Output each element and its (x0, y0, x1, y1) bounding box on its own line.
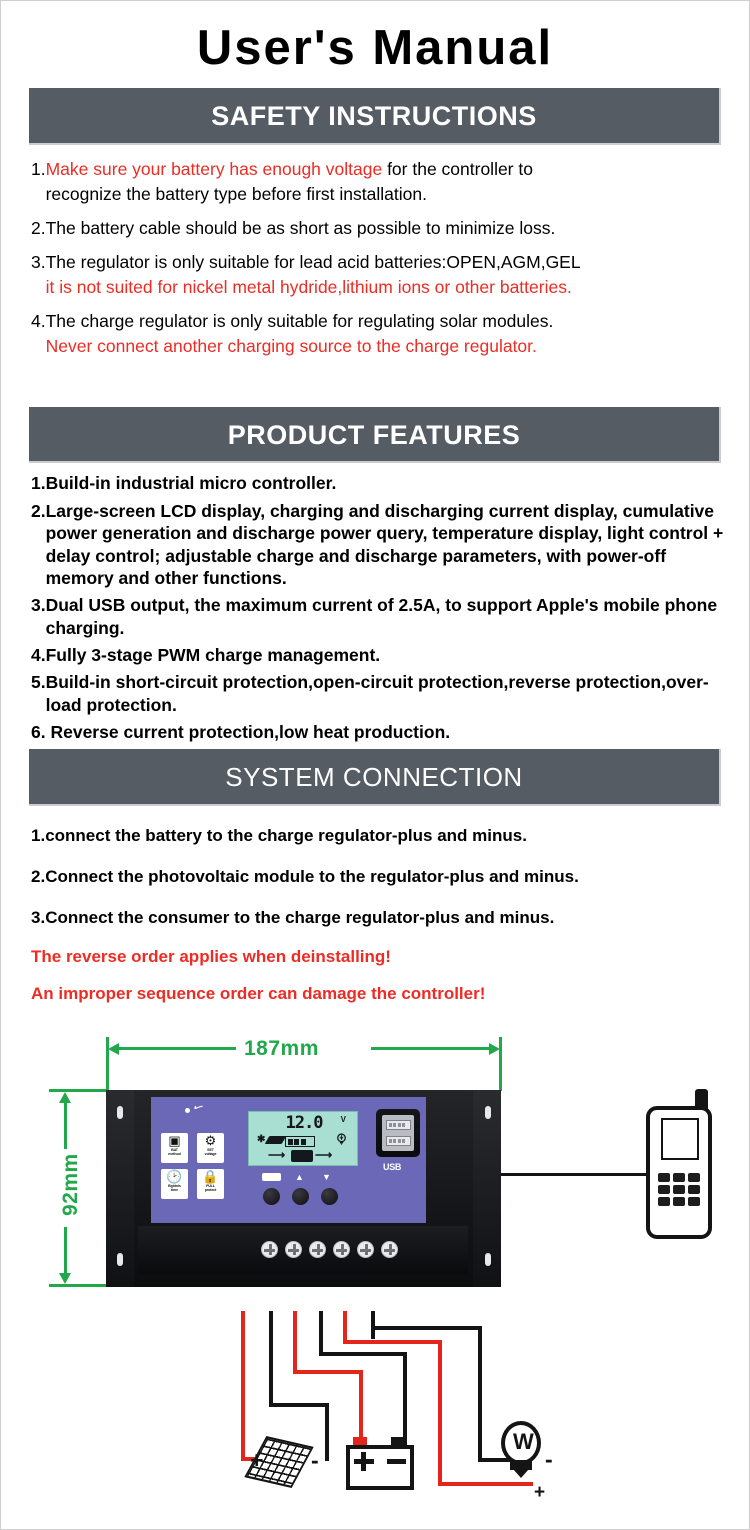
usb-slot-icon (386, 1136, 411, 1146)
load-minus-sign: - (545, 1448, 553, 1471)
mount-slot-icon (485, 1253, 491, 1266)
button-down[interactable] (321, 1188, 338, 1205)
list-item-number: 1. (31, 824, 45, 848)
phone-key (688, 1197, 700, 1206)
wire-load-positive-h (343, 1340, 442, 1344)
list-item-number: 3. (31, 250, 46, 300)
battery-icon (291, 1150, 313, 1162)
bulb-filament-icon: W (513, 1431, 534, 1453)
dim-width-arrow-left-icon (108, 1043, 119, 1055)
pad-brightness-time-label: Bghtnlstime (167, 1184, 182, 1192)
list-item-line2-red: Never connect another charging source to… (46, 336, 537, 356)
load-plus-sign: + (534, 1483, 545, 1502)
list-item-number: 4. (31, 309, 46, 359)
phone-key (658, 1185, 670, 1194)
list-item: 4. The charge regulator is only suitable… (31, 309, 727, 359)
safety-instructions-list: 1. Make sure your battery has enough vol… (1, 157, 749, 358)
list-item-text: Reverse current protection,low heat prod… (50, 721, 727, 743)
load-bulb-icon (335, 1133, 348, 1146)
list-item-number: 5. (31, 671, 46, 716)
terminal-block (138, 1226, 468, 1274)
arrow-charge-icon: ⟶ (268, 1149, 285, 1161)
button-up-cap-icon: ▲ (295, 1173, 304, 1182)
spacer (1, 367, 749, 407)
list-item: 1. Make sure your battery has enough vol… (31, 157, 727, 207)
solar-minus-sign: - (311, 1449, 319, 1472)
lock-icon: 🔒 (202, 1170, 218, 1184)
usb-port[interactable] (376, 1109, 420, 1157)
warning-improper-sequence: An improper sequence order can damage th… (1, 984, 749, 1004)
wire-load-positive-down (438, 1340, 442, 1485)
usb-slot-icon (386, 1120, 411, 1130)
mount-slot-icon (485, 1106, 491, 1119)
button-select[interactable] (263, 1188, 280, 1205)
phone-key (673, 1173, 685, 1182)
wire-load-negative (371, 1311, 375, 1339)
list-item: 2. Connect the photovoltaic module to th… (31, 865, 727, 889)
section-header-safety: SAFETY INSTRUCTIONS (29, 88, 721, 145)
list-item-number: 1. (31, 157, 46, 207)
lcd-voltage-unit: V (341, 1115, 346, 1124)
pad-set-voltage-label: SETvoltage (204, 1148, 218, 1156)
wire-battery-negative-down (403, 1352, 407, 1442)
dim-height-arrow-up-icon (59, 1092, 71, 1103)
terminal-screw[interactable] (285, 1241, 302, 1258)
system-connection-list: 1. connect the battery to the charge reg… (1, 824, 749, 930)
wire-solar-negative-h (269, 1403, 329, 1407)
battery-plus-mark-v (361, 1452, 366, 1471)
list-item-number: 2. (31, 865, 45, 889)
list-item-number: 2. (31, 216, 46, 241)
list-item: 1. Build-in industrial micro controller. (31, 472, 727, 494)
list-item-line2-red: it is not suited for nickel metal hydrid… (46, 277, 572, 297)
usb-label: USB (383, 1162, 401, 1172)
list-item-number: 2. (31, 500, 46, 590)
list-item: 4. Fully 3-stage PWM charge management. (31, 644, 727, 666)
list-item-line1: The charge regulator is only suitable fo… (46, 311, 554, 331)
list-item-line1: The regulator is only suitable for lead … (46, 252, 581, 272)
wire-solar-negative (269, 1311, 273, 1406)
list-item: 2. Large-screen LCD display, charging an… (31, 500, 727, 590)
pad-bat-method-label: BATmethod (167, 1148, 181, 1156)
gear-icon: ⚙ (205, 1134, 217, 1148)
wire-battery-positive-down (359, 1370, 363, 1442)
list-item-text: Large-screen LCD display, charging and d… (46, 500, 727, 590)
usb-cable (501, 1173, 649, 1176)
warning-reverse-order: The reverse order applies when deinstall… (1, 947, 749, 967)
frame-icon: ▣ (168, 1134, 180, 1148)
pad-bat-method[interactable]: ▣ BATmethod (161, 1133, 188, 1163)
list-item-tail: for the controller to (382, 159, 533, 179)
dim-height-line-bottom (64, 1227, 67, 1275)
mount-slot-icon (117, 1106, 123, 1119)
phone-key (658, 1173, 670, 1182)
battery-graphic (346, 1445, 414, 1490)
wire-battery-positive (293, 1311, 297, 1373)
terminal-screw[interactable] (261, 1241, 278, 1258)
wire-battery-negative-h (319, 1352, 407, 1356)
battery-bar (294, 1139, 299, 1145)
list-item-text: Build-in industrial micro controller. (46, 472, 727, 494)
section-header-system: SYSTEM CONNECTION (29, 749, 721, 806)
phone-key (673, 1185, 685, 1194)
battery-minus-mark (387, 1459, 406, 1464)
dim-height-tick-top (49, 1089, 109, 1092)
phone-keypad (658, 1173, 702, 1206)
list-item-text: Connect the photovoltaic module to the r… (45, 865, 727, 889)
highlight-red: Make sure your battery has enough voltag… (46, 159, 383, 179)
list-item-number: 4. (31, 644, 46, 666)
dim-height-line-top (64, 1101, 67, 1149)
list-item: 1. connect the battery to the charge reg… (31, 824, 727, 848)
dim-width-line-left (119, 1047, 236, 1050)
terminal-screw[interactable] (333, 1241, 350, 1258)
battery-bar (288, 1139, 293, 1145)
button-up[interactable] (292, 1188, 309, 1205)
wire-battery-positive-h (293, 1370, 363, 1374)
wire-load-negative-h (371, 1326, 482, 1330)
manual-page: User's Manual SAFETY INSTRUCTIONS 1. Mak… (0, 0, 750, 1530)
page-title: User's Manual (1, 1, 749, 74)
phone-key (673, 1197, 685, 1206)
product-features-list: 1. Build-in industrial micro controller.… (1, 472, 749, 743)
button-select-cap-icon (262, 1173, 281, 1181)
pad-full-protect[interactable]: 🔒 FULLprotect (197, 1169, 224, 1199)
dim-width-line-right (371, 1047, 489, 1050)
wire-battery-negative (319, 1311, 323, 1355)
list-item: 5. Build-in short-circuit protection,ope… (31, 671, 727, 716)
wire-load-positive (343, 1311, 347, 1343)
clock-icon: 🕑 (166, 1170, 182, 1184)
phone-key (688, 1173, 700, 1182)
button-down-cap-icon: ▼ (322, 1173, 331, 1182)
wire-load-positive-leg (438, 1482, 533, 1486)
wire-load-negative-down (478, 1326, 482, 1461)
list-item-number: 1. (31, 472, 46, 494)
mount-slot-icon (117, 1253, 123, 1266)
list-item-text: The regulator is only suitable for lead … (46, 250, 727, 300)
list-item: 3. The regulator is only suitable for le… (31, 250, 727, 300)
list-item-text: Fully 3-stage PWM charge management. (46, 644, 727, 666)
list-item-text: The charge regulator is only suitable fo… (46, 309, 727, 359)
wire-solar-positive (241, 1311, 245, 1461)
solar-panel-icon (265, 1136, 287, 1144)
dim-height-tick-bottom (49, 1284, 109, 1287)
battery-bar (301, 1139, 306, 1145)
list-item-text: connect the battery to the charge regula… (45, 824, 727, 848)
list-item-text: Make sure your battery has enough voltag… (46, 157, 727, 207)
section-header-features: PRODUCT FEATURES (29, 407, 721, 463)
wire-solar-negative-down (325, 1403, 329, 1461)
terminal-screw[interactable] (357, 1241, 374, 1258)
list-item: 2. The battery cable should be as short … (31, 216, 727, 241)
list-item: 3. Connect the consumer to the charge re… (31, 906, 727, 930)
list-item: 3. Dual USB output, the maximum current … (31, 594, 727, 639)
solar-plus-sign: + (250, 1449, 263, 1472)
battery-level-indicator (285, 1136, 315, 1147)
list-item-number: 3. (31, 906, 45, 930)
list-item-text: Build-in short-circuit protection,open-c… (46, 671, 727, 716)
list-item-number: 6. (31, 721, 50, 743)
list-item-number: 3. (31, 594, 46, 639)
pad-full-protect-label: FULLprotect (204, 1184, 217, 1192)
list-item-text: Dual USB output, the maximum current of … (46, 594, 727, 639)
pad-set-voltage[interactable]: ⚙ SETvoltage (197, 1133, 224, 1163)
list-item-text: Connect the consumer to the charge regul… (45, 906, 727, 930)
dim-width-label: 187mm (244, 1037, 319, 1061)
dim-height-label: 92mm (59, 1153, 83, 1216)
terminal-screw[interactable] (309, 1241, 326, 1258)
phone-screen (661, 1118, 699, 1160)
list-item-text: The battery cable should be as short as … (46, 216, 727, 241)
dim-width-arrow-right-icon (489, 1043, 500, 1055)
bulb-tip (513, 1469, 529, 1478)
arrow-discharge-icon: ⟶ (315, 1149, 332, 1161)
list-item: 6. Reverse current protection,low heat p… (31, 721, 727, 743)
dim-height-arrow-down-icon (59, 1273, 71, 1284)
terminal-screw[interactable] (381, 1241, 398, 1258)
battery-bar-empty (307, 1139, 312, 1145)
usb-inner-shell (382, 1115, 414, 1151)
phone-key (658, 1197, 670, 1206)
list-item-line2: recognize the battery type before first … (46, 184, 427, 204)
phone-key (688, 1185, 700, 1194)
lcd-screen: 12.0 V ✱ ⟶ ⟶ (248, 1111, 358, 1166)
pad-brightness-time[interactable]: 🕑 Bghtnlstime (161, 1169, 188, 1199)
